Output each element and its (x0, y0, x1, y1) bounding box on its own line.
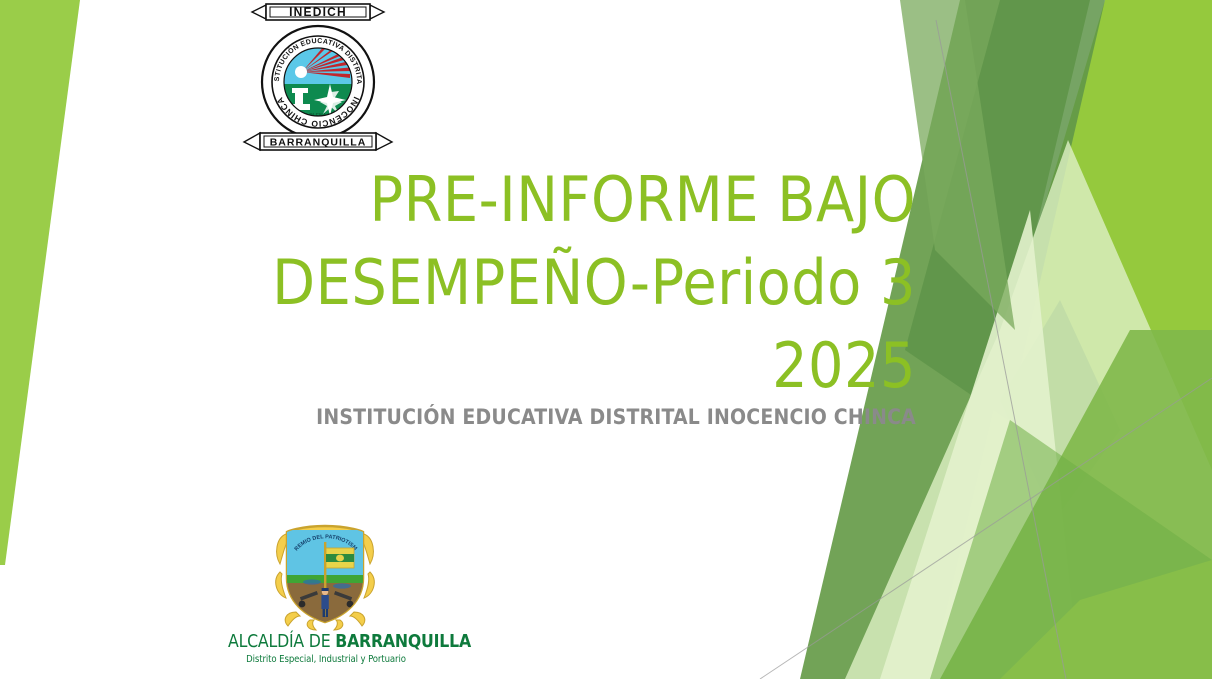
title-line-1: PRE-INFORME BAJO (200, 158, 916, 241)
presentation-slide: INEDICH INSTITUCIÓN EDUCATIVA DISTRITAL … (0, 0, 1212, 679)
bottom-green-fan (1000, 560, 1212, 679)
slide-title: PRE-INFORME BAJO DESEMPEÑO-Periodo 3 202… (200, 158, 916, 407)
right-deep-notch (1000, 300, 1120, 520)
alcaldia-wordmark: ALCALDÍA DE BARRANQUILLA Distrito Especi… (228, 634, 424, 664)
lower-right-green (940, 330, 1212, 679)
alcaldia-wordmark-line: ALCALDÍA DE BARRANQUILLA (228, 634, 424, 652)
alcaldia-logo: PREMIO DEL PATRIOTISMO (228, 520, 424, 670)
crest-top-banner: INEDICH (252, 4, 384, 20)
slide-subtitle: INSTITUCIÓN EDUCATIVA DISTRITAL INOCENCI… (200, 405, 916, 429)
left-green-wedge (0, 0, 80, 565)
alcaldia-tagline: Distrito Especial, Industrial y Portuari… (228, 655, 424, 665)
title-line-3: 2025 (200, 324, 916, 407)
right-bright-band (905, 0, 1212, 679)
alcaldia-wordmark-light: ALCALDÍA DE (228, 632, 335, 652)
hairline-diagonal-1 (936, 20, 1066, 679)
title-line-2: DESEMPEÑO-Periodo 3 (200, 241, 916, 324)
crest-bottom-banner: BARRANQUILLA (244, 133, 392, 150)
translucent-overlay (930, 420, 1212, 679)
barranquilla-shield-icon: PREMIO DEL PATRIOTISMO (266, 520, 384, 632)
crest-bottom-banner-text: BARRANQUILLA (270, 137, 367, 149)
crest-top-banner-text: INEDICH (289, 5, 347, 19)
inedich-crest: INEDICH INSTITUCIÓN EDUCATIVA DISTRITAL … (238, 2, 398, 154)
alcaldia-wordmark-bold: BARRANQUILLA (335, 632, 471, 652)
right-dark-facet (905, 0, 1105, 420)
upper-soft-overlay (900, 0, 1015, 330)
